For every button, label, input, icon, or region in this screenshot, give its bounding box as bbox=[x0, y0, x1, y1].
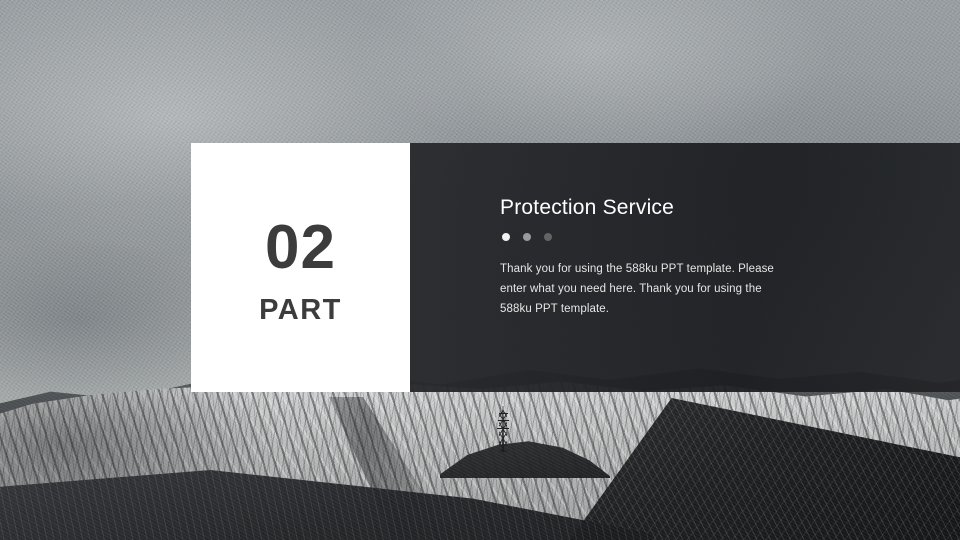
transmission-pylon-icon bbox=[496, 406, 510, 452]
slide-canvas: Protection Service Thank you for using t… bbox=[0, 0, 960, 540]
pylon-crossarm-top bbox=[499, 413, 508, 414]
content-panel: Protection Service Thank you for using t… bbox=[410, 143, 960, 392]
panel-body-text: Thank you for using the 588ku PPT templa… bbox=[500, 260, 792, 319]
section-number-card: 02 PART bbox=[191, 143, 410, 392]
pylon-crossarm-low bbox=[497, 428, 509, 429]
panel-title: Protection Service bbox=[500, 196, 820, 219]
dot-indicator-3[interactable] bbox=[544, 233, 552, 241]
pylon-crossarm-mid bbox=[498, 420, 509, 421]
dot-indicator-group bbox=[502, 233, 820, 241]
content-panel-inner: Protection Service Thank you for using t… bbox=[500, 196, 820, 319]
dot-indicator-1[interactable] bbox=[502, 233, 510, 241]
section-number: 02 bbox=[265, 217, 336, 279]
pylon-lattice bbox=[499, 410, 507, 452]
section-part-label: PART bbox=[259, 296, 342, 325]
dot-indicator-2[interactable] bbox=[523, 233, 531, 241]
